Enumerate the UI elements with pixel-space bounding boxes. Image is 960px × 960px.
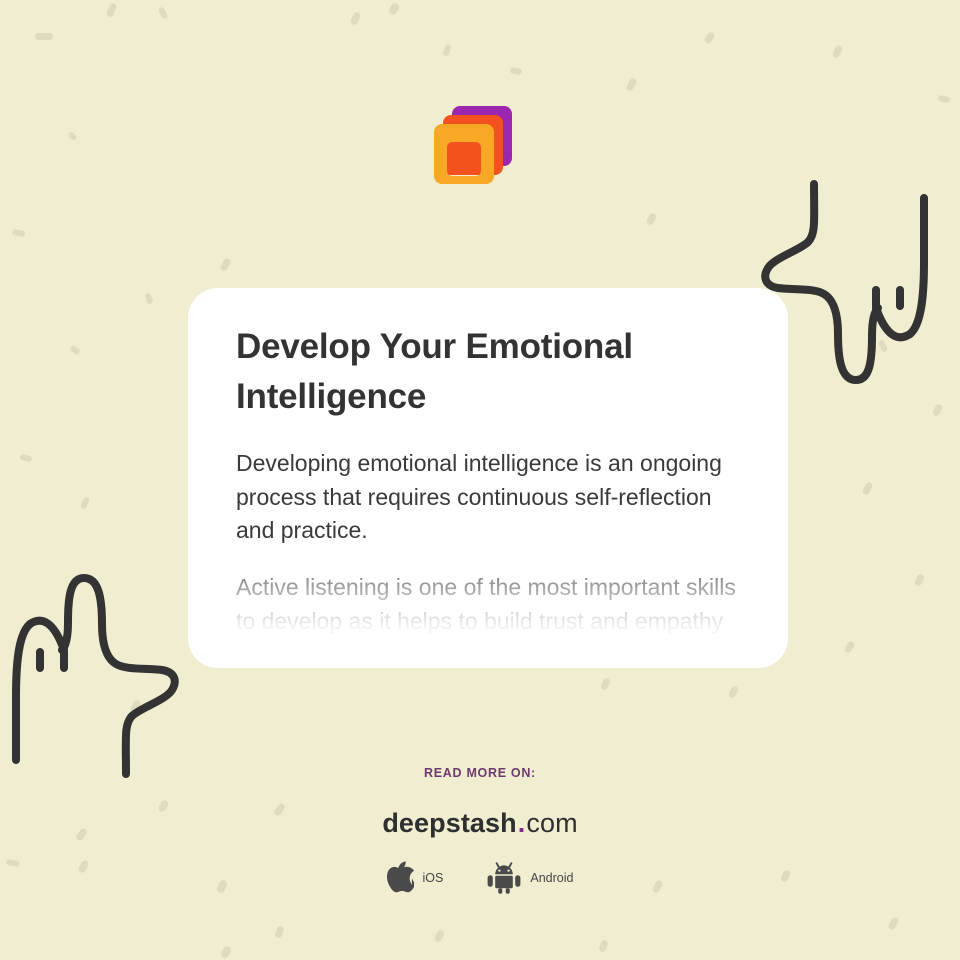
android-icon bbox=[487, 862, 521, 894]
background-speck bbox=[67, 131, 78, 141]
background-speck bbox=[832, 44, 844, 59]
background-speck bbox=[843, 640, 855, 654]
android-label: Android bbox=[530, 871, 573, 885]
background-speck bbox=[350, 11, 362, 26]
background-speck bbox=[938, 95, 951, 103]
background-speck bbox=[69, 345, 81, 356]
deepstash-logo bbox=[428, 104, 520, 196]
background-speck bbox=[434, 929, 446, 943]
background-speck bbox=[220, 945, 233, 959]
android-badge[interactable]: Android bbox=[487, 862, 573, 894]
background-speck bbox=[600, 677, 611, 691]
background-speck bbox=[914, 573, 925, 587]
background-speck bbox=[274, 925, 285, 939]
background-speck bbox=[727, 685, 739, 699]
background-speck bbox=[931, 403, 943, 417]
background-speck bbox=[510, 67, 523, 75]
background-speck bbox=[887, 916, 900, 931]
footer: READ MORE ON: deepstash.com iOS bbox=[0, 766, 960, 894]
read-more-label: READ MORE ON: bbox=[0, 766, 960, 780]
background-speck bbox=[219, 257, 231, 272]
ios-badge[interactable]: iOS bbox=[387, 861, 444, 894]
brand-tld: com bbox=[526, 808, 577, 838]
background-speck bbox=[878, 339, 889, 352]
background-speck bbox=[144, 292, 153, 304]
page-title: Develop Your Emotional Intelligence bbox=[236, 322, 744, 421]
background-speck bbox=[388, 2, 401, 16]
apple-icon bbox=[387, 861, 414, 894]
background-speck bbox=[646, 212, 657, 226]
background-speck bbox=[12, 229, 26, 238]
background-speck bbox=[442, 43, 452, 56]
background-speck bbox=[19, 454, 32, 463]
card-paragraph-2: Active listening is one of the most impo… bbox=[236, 571, 744, 668]
background-speck bbox=[80, 496, 91, 509]
background-speck bbox=[861, 481, 873, 496]
background-speck bbox=[625, 77, 638, 92]
brand-dot: . bbox=[517, 808, 527, 838]
background-speck bbox=[703, 31, 715, 45]
card-content: Develop Your Emotional Intelligence Deve… bbox=[188, 288, 788, 668]
background-speck bbox=[129, 699, 142, 714]
brand-name: deepstash bbox=[382, 808, 516, 838]
infographic-canvas: Develop Your Emotional Intelligence Deve… bbox=[0, 0, 960, 960]
background-speck bbox=[598, 939, 609, 953]
app-store-badges: iOS bbox=[0, 861, 960, 894]
background-speck bbox=[157, 6, 168, 19]
ios-label: iOS bbox=[423, 871, 444, 885]
background-speck bbox=[106, 2, 118, 18]
background-speck bbox=[35, 33, 53, 40]
card-paragraph-1: Developing emotional intelligence is an … bbox=[236, 447, 744, 547]
brand-wordmark[interactable]: deepstash.com bbox=[0, 808, 960, 839]
content-card: Develop Your Emotional Intelligence Deve… bbox=[188, 288, 788, 668]
